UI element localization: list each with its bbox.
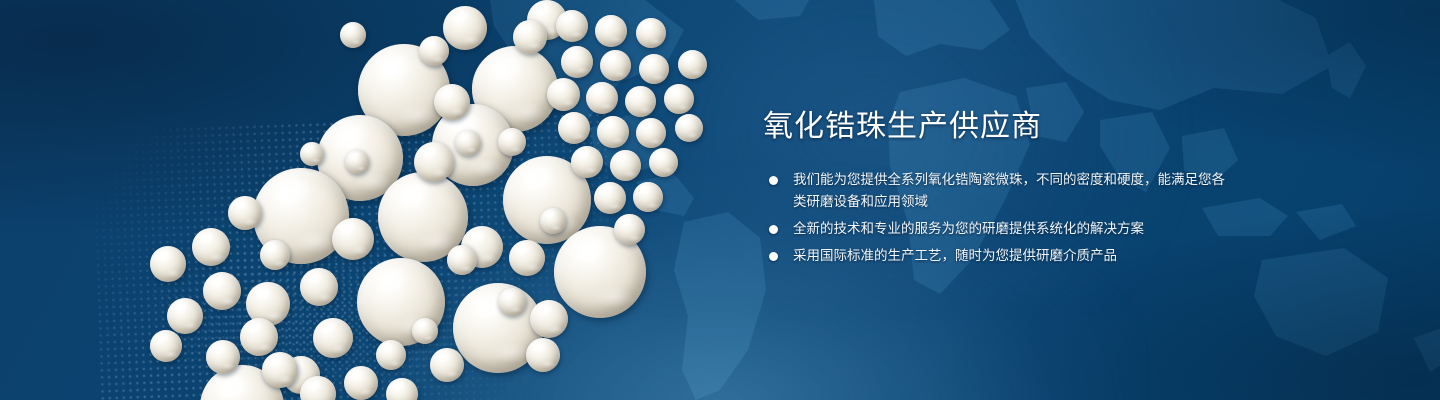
zirconia-beads-photo	[0, 0, 760, 400]
hero-banner: 氧化锆珠生产供应商 我们能为您提供全系列氧化锆陶瓷微珠，不同的密度和硬度，能满足…	[0, 0, 1440, 400]
bullet-dot-icon	[769, 176, 778, 185]
banner-feature-list: 我们能为您提供全系列氧化锆陶瓷微珠，不同的密度和硬度，能满足您各类研磨设备和应用…	[763, 169, 1233, 267]
list-item: 全新的技术和专业的服务为您的研磨提供系统化的解决方案	[763, 218, 1233, 240]
bullet-dot-icon	[769, 225, 778, 234]
list-item: 我们能为您提供全系列氧化锆陶瓷微珠，不同的密度和硬度，能满足您各类研磨设备和应用…	[763, 169, 1233, 213]
list-item: 采用国际标准的生产工艺，随时为您提供研磨介质产品	[763, 245, 1233, 267]
banner-headline: 氧化锆珠生产供应商	[763, 110, 1233, 145]
list-item-text: 采用国际标准的生产工艺，随时为您提供研磨介质产品	[793, 248, 1117, 263]
banner-copy: 氧化锆珠生产供应商 我们能为您提供全系列氧化锆陶瓷微珠，不同的密度和硬度，能满足…	[763, 110, 1233, 272]
bullet-dot-icon	[769, 252, 778, 261]
list-item-text: 全新的技术和专业的服务为您的研磨提供系统化的解决方案	[793, 221, 1144, 236]
list-item-text: 我们能为您提供全系列氧化锆陶瓷微珠，不同的密度和硬度，能满足您各类研磨设备和应用…	[793, 172, 1225, 209]
